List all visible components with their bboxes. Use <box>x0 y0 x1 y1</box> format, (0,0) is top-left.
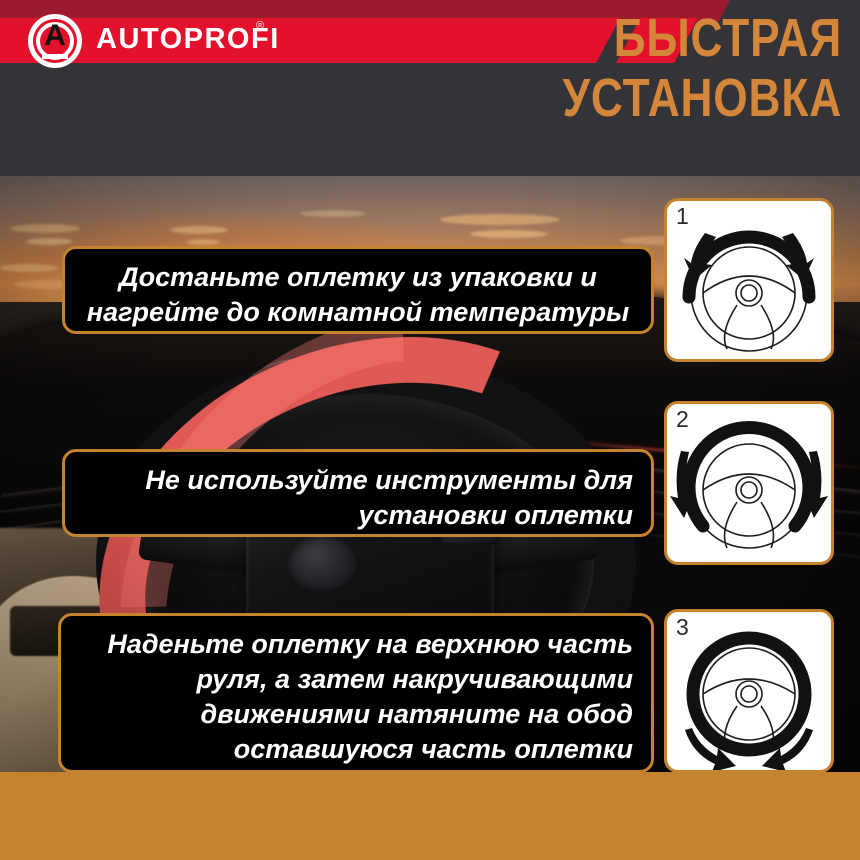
red-banner <box>0 18 560 63</box>
page-title-line-1: БЫСТРАЯ <box>489 8 842 68</box>
page-title: БЫСТРАЯ УСТАНОВКА <box>489 8 842 128</box>
registered-mark: ® <box>256 20 264 32</box>
instruction-callout-2: Не используйте инструменты для установки… <box>62 449 654 537</box>
header: A AUTOPROFI ® БЫСТРАЯ УСТАНОВКА <box>0 0 860 176</box>
step-card-1: 1 <box>664 198 834 362</box>
brand-name: AUTOPROFI <box>96 23 280 56</box>
poster: A AUTOPROFI ® БЫСТРАЯ УСТАНОВКА Достаньт… <box>0 0 860 860</box>
step-card-3: 3 <box>664 609 834 773</box>
page-title-line-2: УСТАНОВКА <box>489 68 842 128</box>
autoprofi-logo-icon: A <box>28 14 82 68</box>
logo-letter: A <box>28 21 82 51</box>
instruction-callout-1: Достаньте оплетку из упаковки и нагрейте… <box>62 246 654 334</box>
steering-wheel-cover-partial-icon <box>667 404 831 562</box>
steering-wheel-cover-complete-icon <box>667 612 831 770</box>
bottom-band <box>0 772 860 860</box>
instruction-callout-3: Наденьте оплетку на верхнюю часть руля, … <box>58 613 654 773</box>
steering-wheel-cover-top-arc-icon <box>667 201 831 359</box>
step-card-2: 2 <box>664 401 834 565</box>
